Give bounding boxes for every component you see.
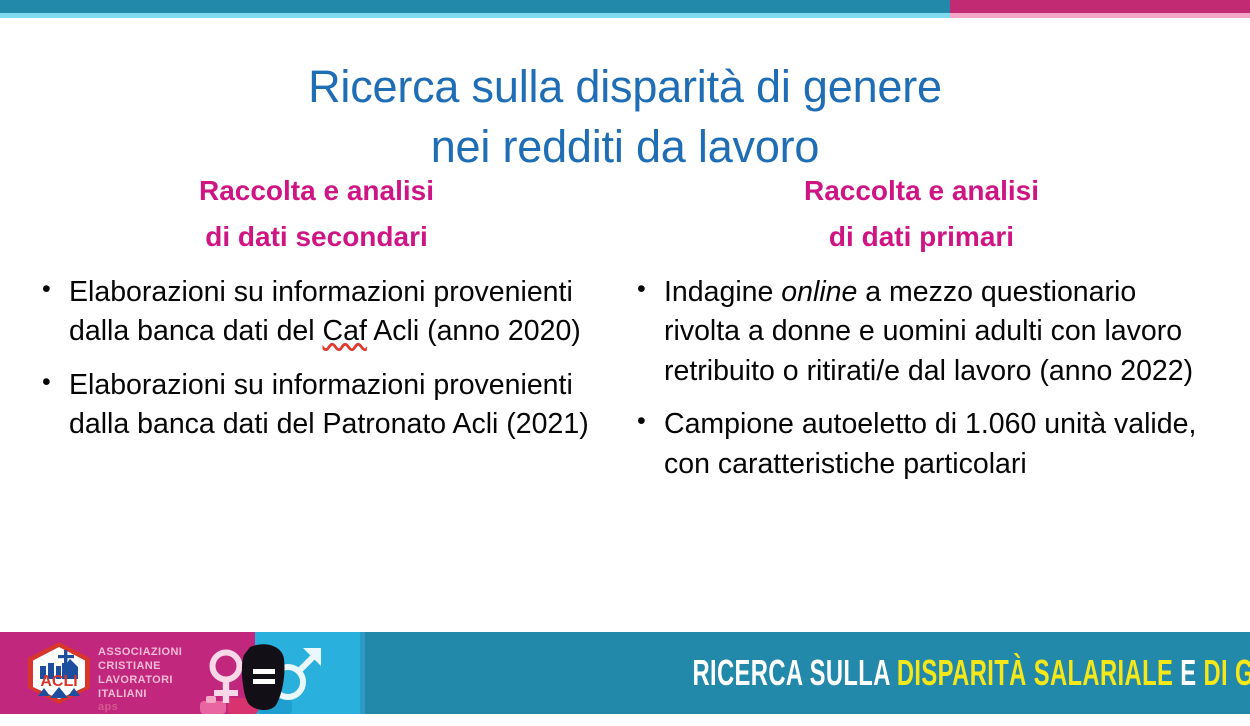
column-heading-secondary-line-2: di dati secondari: [38, 214, 595, 260]
footer-brand-block: ACLI ASSOCIAZIONI CRISTIANE LAVORATORI I…: [0, 632, 255, 714]
bullet-item: Elaborazioni su informazioni provenienti…: [38, 366, 595, 445]
slide-footer: ACLI ASSOCIAZIONI CRISTIANE LAVORATORI I…: [0, 632, 1250, 714]
footer-campaign-block: RICERCA SULLA DISPARITÀ SALARIALE E DI G…: [360, 632, 1250, 714]
acli-brand-words: ASSOCIAZIONI CRISTIANE LAVORATORI ITALIA…: [98, 646, 182, 714]
bullet-text: Acli (anno 2020): [367, 315, 581, 347]
footer-campaign-word: DI: [1203, 652, 1235, 693]
top-stripe-cyan-segment: [0, 13, 950, 18]
column-heading-primary-line-2: di dati primari: [633, 214, 1210, 260]
footer-campaign-word: GENERE: [1235, 652, 1250, 693]
slide-title-line-1: Ricerca sulla disparità di genere: [0, 57, 1250, 117]
top-decor-bar: [0, 0, 1250, 13]
acli-brand-line-2: CRISTIANE: [98, 660, 182, 674]
bullet-item: Indagine online a mezzo questionario riv…: [633, 273, 1210, 391]
footer-campaign-word: DISPARITÀ: [897, 652, 1034, 693]
acli-brand-suffix: aps: [98, 701, 182, 714]
column-heading-primary: Raccolta e analisi di dati primari: [633, 168, 1210, 261]
top-stripe-pink-segment: [950, 13, 1250, 18]
top-bar-teal-segment: [0, 0, 950, 13]
footer-campaign-word: SALARIALE: [1034, 652, 1181, 693]
bullet-text: Campione autoeletto di 1.060 unità valid…: [664, 408, 1196, 479]
misspelled-word: Caf: [323, 315, 367, 347]
column-heading-secondary: Raccolta e analisi di dati secondari: [38, 168, 595, 261]
acli-brand-line-4: ITALIANI: [98, 688, 182, 702]
acli-logo-text: ACLI: [40, 673, 77, 690]
column-heading-secondary-line-1: Raccolta e analisi: [38, 168, 595, 214]
acli-hexagon-logo: ACLI: [26, 641, 92, 705]
column-primary-data: Raccolta e analisi di dati primari Indag…: [625, 168, 1250, 618]
bullet-list-primary: Indagine online a mezzo questionario riv…: [633, 273, 1210, 484]
top-bar-magenta-segment: [950, 0, 1250, 13]
footer-seam-divider: [360, 632, 365, 714]
bullet-list-secondary: Elaborazioni su informazioni provenienti…: [38, 273, 595, 445]
bullet-text: online: [781, 276, 857, 308]
bullet-text: Elaborazioni su informazioni provenienti…: [69, 369, 589, 440]
column-heading-primary-line-1: Raccolta e analisi: [633, 168, 1210, 214]
content-columns: Raccolta e analisi di dati secondari Ela…: [0, 168, 1250, 618]
top-decor-stripe: [0, 13, 1250, 18]
column-secondary-data: Raccolta e analisi di dati secondari Ela…: [0, 168, 625, 618]
bullet-item: Elaborazioni su informazioni provenienti…: [38, 273, 595, 352]
footer-campaign-text: RICERCA SULLA DISPARITÀ SALARIALE E DI G…: [692, 655, 1250, 691]
footer-campaign-word: RICERCA: [692, 652, 809, 693]
acli-brand-line-3: LAVORATORI: [98, 674, 182, 688]
footer-campaign-word: SULLA: [810, 652, 897, 693]
bullet-item: Campione autoeletto di 1.060 unità valid…: [633, 405, 1210, 484]
acli-brand-line-1: ASSOCIAZIONI: [98, 646, 182, 660]
slide-title: Ricerca sulla disparità di genere nei re…: [0, 57, 1250, 178]
equals-sign-icon: [238, 641, 290, 713]
bullet-text: Indagine: [664, 276, 781, 308]
footer-campaign-word: E: [1180, 652, 1203, 693]
